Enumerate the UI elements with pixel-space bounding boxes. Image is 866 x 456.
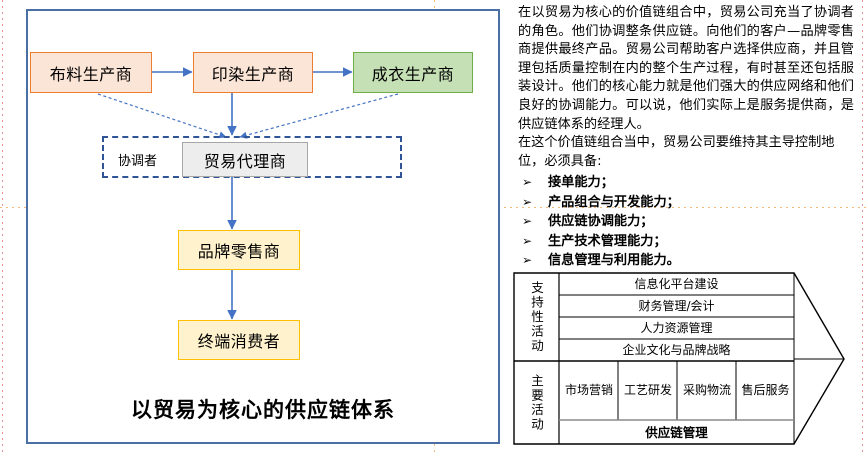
node-trading-agent-label: 贸易代理商: [204, 148, 287, 172]
list-item: ➢ 接单能力；: [518, 173, 854, 192]
arrow-bullet-icon: ➢: [518, 251, 548, 270]
node-fabric-producer-label: 布料生产商: [50, 61, 133, 85]
list-item: ➢ 生产技术管理能力；: [518, 232, 854, 251]
slide-title: 以贸易为核心的供应链体系: [28, 394, 498, 424]
text-panel: 在以贸易为核心的价值链组合中，贸易公司充当了协调者的角色。他们协调整条供应链。向…: [518, 4, 854, 270]
arrow-bullet-icon: ➢: [518, 232, 548, 251]
list-item-label: 产品组合与开发能力；: [548, 193, 680, 212]
slide-canvas: 布料生产商 印染生产商 成衣生产商 协调者 贸易代理商 品牌零售商 终端消费者 …: [0, 0, 866, 456]
node-trading-agent[interactable]: 贸易代理商: [182, 142, 308, 177]
value-chain-primary-label: 主要活动: [514, 361, 559, 444]
node-dyeing-producer[interactable]: 印染生产商: [193, 52, 313, 93]
supply-chain-slide: 布料生产商 印染生产商 成衣生产商 协调者 贸易代理商 品牌零售商 终端消费者 …: [26, 9, 500, 444]
paragraph-overview: 在以贸易为核心的价值链组合中，贸易公司充当了协调者的角色。他们协调整条供应链。向…: [518, 4, 854, 134]
node-dyeing-producer-label: 印染生产商: [212, 61, 295, 85]
guide-vertical-left-red: [2, 0, 3, 456]
primary-cell-3: 售后服务: [737, 361, 794, 420]
arrow-bullet-icon: ➢: [518, 173, 548, 192]
primary-cell-1: 工艺研发: [619, 361, 677, 420]
support-row-3: 企业文化与品牌战略: [559, 339, 794, 361]
coordinator-label: 协调者: [118, 150, 157, 169]
list-item-label: 接单能力；: [548, 173, 614, 192]
list-item-label: 信息管理与利用能力。: [548, 251, 680, 270]
node-brand-retailer-label: 品牌零售商: [198, 238, 281, 262]
node-end-consumer[interactable]: 终端消费者: [178, 320, 300, 360]
guide-vertical-right-red: [862, 0, 863, 456]
primary-cell-2: 采购物流: [678, 361, 736, 420]
node-brand-retailer[interactable]: 品牌零售商: [178, 230, 300, 270]
list-item: ➢ 产品组合与开发能力；: [518, 193, 854, 212]
value-chain-support-label: 支持性活动: [514, 273, 559, 361]
primary-cell-0: 市场营销: [560, 361, 618, 420]
capability-list: ➢ 接单能力； ➢ 产品组合与开发能力； ➢ 供应链协调能力； ➢ 生产技术管理…: [518, 173, 854, 270]
list-item: ➢ 信息管理与利用能力。: [518, 251, 854, 270]
node-end-consumer-label: 终端消费者: [198, 328, 281, 352]
list-item-label: 供应链协调能力；: [548, 212, 654, 231]
arrow-bullet-icon: ➢: [518, 193, 548, 212]
value-chain-footer: 供应链管理: [559, 420, 794, 444]
support-row-0: 信息化平台建设: [559, 273, 794, 295]
support-row-1: 财务管理/会计: [559, 295, 794, 317]
node-fabric-producer[interactable]: 布料生产商: [30, 52, 152, 93]
paragraph-requirements-intro: 在这个价值链组合当中，贸易公司要维持其主导控制地位，必须具备:: [518, 134, 854, 171]
value-chain-diagram: 支持性活动 主要活动 信息化平台建设 财务管理/会计 人力资源管理 企业文化与品…: [513, 272, 846, 449]
arrow-bullet-icon: ➢: [518, 212, 548, 231]
list-item-label: 生产技术管理能力；: [548, 232, 667, 251]
support-row-2: 人力资源管理: [559, 317, 794, 339]
list-item: ➢ 供应链协调能力；: [518, 212, 854, 231]
node-garment-producer-label: 成衣生产商: [372, 61, 455, 85]
node-garment-producer[interactable]: 成衣生产商: [353, 52, 473, 93]
